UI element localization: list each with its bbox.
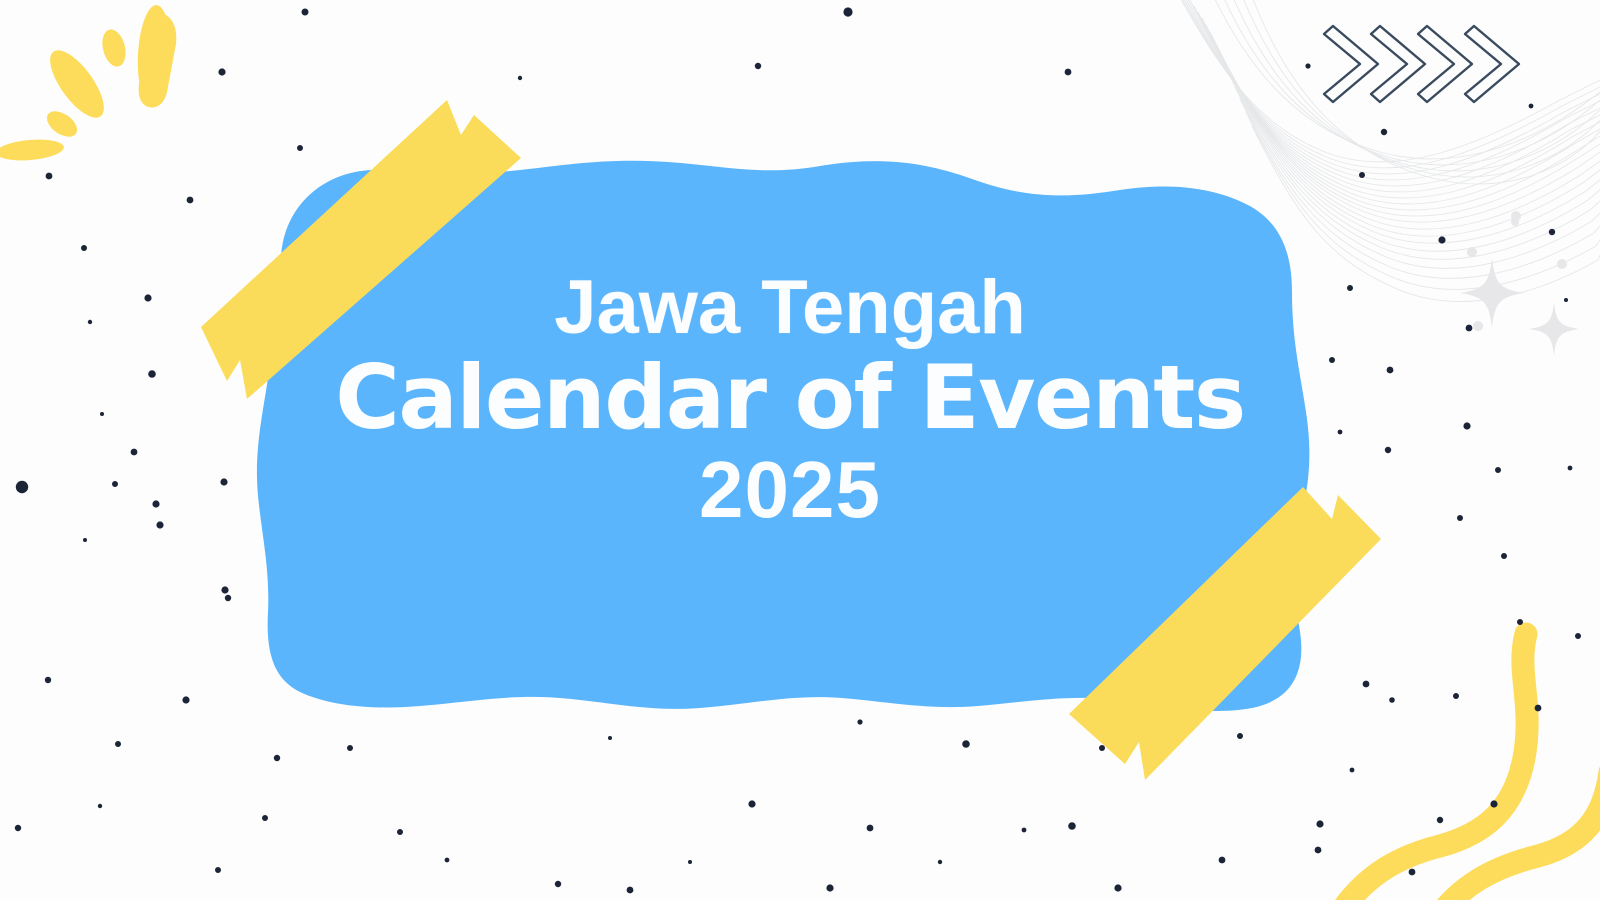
sunburst-stroke-2 (135, 4, 172, 106)
sunburst-stroke-5 (42, 106, 81, 142)
wavy-line-1 (1330, 634, 1527, 900)
sparkle-star-icon-2 (1529, 302, 1579, 356)
slide-canvas: Jawa Tengah Calendar of Events 2025 (0, 0, 1600, 900)
chevron-right-icon-4 (1465, 26, 1519, 102)
sunburst-stroke-3 (99, 27, 130, 69)
sunburst-stroke-4 (41, 42, 114, 126)
sparkle-star-icon-1 (1460, 258, 1524, 328)
sunburst-stroke-6 (0, 137, 65, 163)
sunburst-stroke-1 (139, 12, 177, 107)
title-block: Jawa Tengah Calendar of Events 2025 (300, 270, 1280, 532)
title-region-line: Jawa Tengah (300, 270, 1280, 346)
title-main-line: Calendar of Events (300, 352, 1280, 444)
title-year-line: 2025 (300, 448, 1280, 532)
chevron-right-icon-1 (1324, 26, 1378, 102)
wavy-line-2 (1430, 772, 1600, 900)
sparkle-dot-2 (1557, 259, 1567, 269)
sparkle-dot-3 (1473, 321, 1483, 331)
chevron-right-icon-2 (1371, 26, 1425, 102)
sparkle-dot-1 (1467, 247, 1477, 257)
chevron-right-icon-3 (1418, 26, 1472, 102)
sparkle-dot-4 (1511, 211, 1521, 221)
sparkle-dot-5 (1511, 218, 1519, 226)
